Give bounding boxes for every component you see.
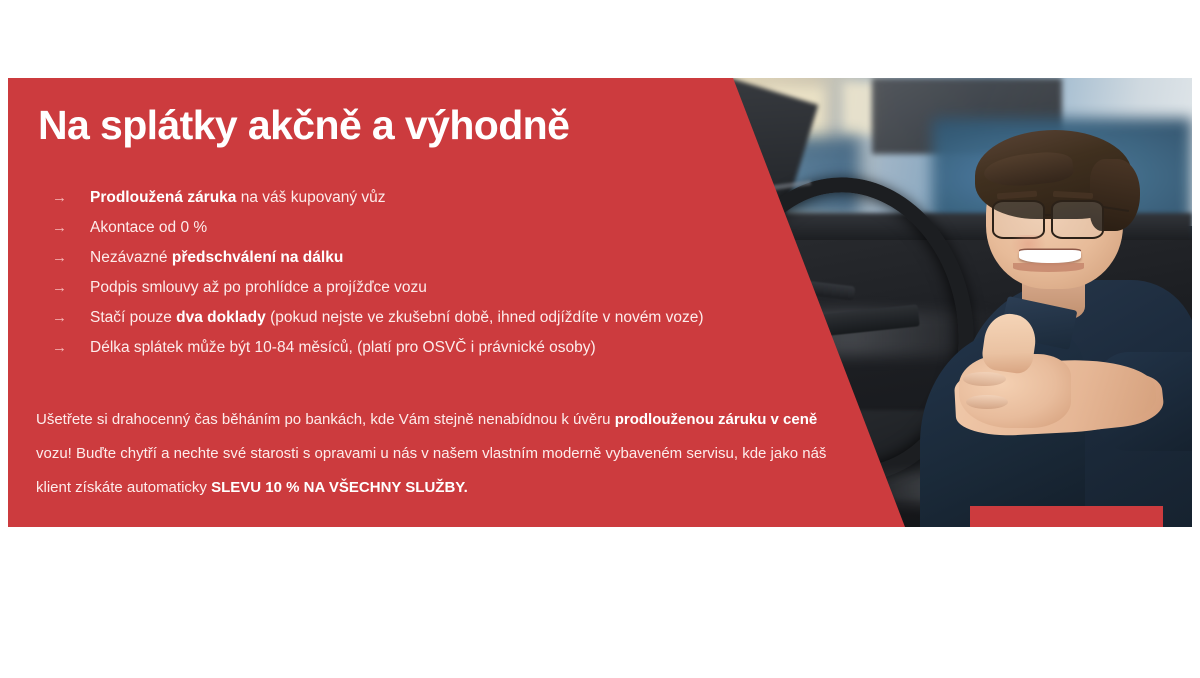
arrow-right-icon: → [52, 333, 67, 363]
arrow-right-icon: → [52, 273, 67, 303]
boy-glasses-bridge [1045, 214, 1053, 216]
list-item: → Nezávazné předschválení na dálku [46, 243, 866, 273]
arrow-right-icon: → [1124, 527, 1141, 528]
boy-knuckle-2 [966, 395, 1009, 409]
page-root: Na splátky akčně a výhodně → Prodloužená… [0, 0, 1200, 678]
list-item-text: Nezávazné [90, 249, 172, 266]
list-item: → Akontace od 0 % [46, 213, 866, 243]
list-item-bold: předschválení na dálku [172, 249, 343, 266]
list-item-text: na váš kupovaný vůz [236, 189, 385, 206]
list-item: → Prodloužená záruka na váš kupovaný vůz [46, 183, 866, 213]
paragraph-part-1: Ušetřete si drahocenný čas běháním po ba… [36, 411, 615, 428]
paragraph-bold-2: SLEVU 10 % NA VŠECHNY SLUŽBY. [211, 479, 468, 496]
arrow-right-icon: → [52, 243, 67, 273]
boy-glasses-right-lens [1051, 200, 1104, 239]
promo-paragraph: Ušetřete si drahocenný čas běháním po ba… [36, 403, 836, 505]
boy-glasses-left-lens [992, 200, 1045, 239]
arrow-right-icon: → [52, 213, 67, 243]
page-title: Na splátky akčně a výhodně [38, 103, 698, 147]
list-item-text: Akontace od 0 % [90, 219, 207, 236]
arrow-right-icon: → [52, 303, 67, 333]
list-item-bold: Prodloužená záruka [90, 189, 236, 206]
boy-smile [1019, 250, 1081, 263]
list-item: → Délka splátek může být 10-84 měsíců, (… [46, 333, 866, 363]
arrow-right-icon: → [52, 183, 67, 213]
promo-banner: Na splátky akčně a výhodně → Prodloužená… [8, 78, 1192, 527]
list-item-text: Podpis smlouvy až po prohlídce a projížď… [90, 279, 427, 296]
list-item-bold: dva doklady [176, 309, 266, 326]
benefit-list: → Prodloužená záruka na váš kupovaný vůz… [46, 183, 866, 363]
list-item: → Stačí pouze dva doklady (pokud nejste … [46, 303, 866, 333]
list-item: → Podpis smlouvy až po prohlídce a projí… [46, 273, 866, 303]
list-item-text-2: (pokud nejste ve zkušební době, ihned od… [266, 309, 704, 326]
list-item-text: Stačí pouze [90, 309, 176, 326]
banner-content: Na splátky akčně a výhodně → Prodloužená… [8, 78, 913, 527]
boy-lower-lip [1013, 263, 1084, 272]
list-item-text: Délka splátek může být 10-84 měsíců, (pl… [90, 339, 596, 356]
contact-us-button[interactable]: OZVĚTE SE NÁM → [970, 506, 1163, 527]
paragraph-bold-1: prodlouženou záruku v ceně [615, 411, 818, 428]
